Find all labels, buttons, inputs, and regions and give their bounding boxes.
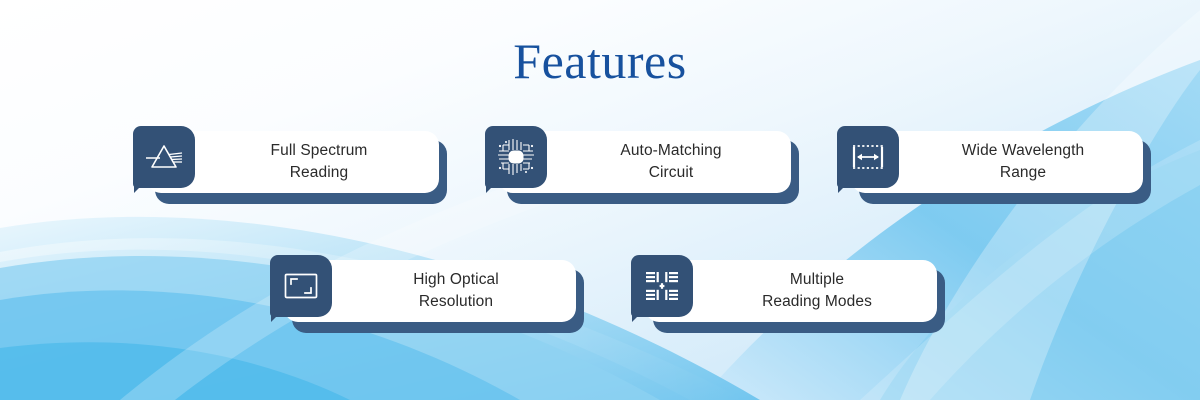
feature-card-auto-matching-circuit[interactable]: Auto-Matching Circuit — [485, 126, 799, 204]
horizontal-range-arrow-icon — [848, 137, 888, 177]
feature-icon-badge — [837, 126, 899, 188]
feature-icon-badge — [133, 126, 195, 188]
badge-tail — [838, 182, 849, 193]
feature-label: Wide Wavelength Range — [910, 140, 1084, 185]
feature-icon-badge — [270, 255, 332, 317]
crop-frame-icon — [281, 266, 321, 306]
feature-icon-badge — [485, 126, 547, 188]
feature-row-bottom: High Optical Resolution Multiple Reading… — [270, 255, 945, 333]
badge-tail — [134, 182, 145, 193]
badge-tail — [271, 311, 282, 322]
feature-label: High Optical Resolution — [361, 269, 499, 314]
page-title: Features — [0, 32, 1200, 90]
feature-card-full-spectrum-reading[interactable]: Full Spectrum Reading — [133, 126, 447, 204]
grid-modes-icon — [642, 266, 682, 306]
feature-card-wide-wavelength-range[interactable]: Wide Wavelength Range — [837, 126, 1151, 204]
badge-tail — [632, 311, 643, 322]
feature-row-top: Full Spectrum Reading Auto-Matching Cir — [133, 126, 1151, 204]
feature-label: Auto-Matching Circuit — [568, 140, 721, 185]
prism-spectrum-icon — [144, 137, 184, 177]
features-slide: Features Full Spectrum Reading — [0, 0, 1200, 400]
microchip-circuit-icon — [496, 137, 536, 177]
feature-icon-badge — [631, 255, 693, 317]
feature-label: Multiple Reading Modes — [710, 269, 872, 314]
feature-label: Full Spectrum Reading — [219, 140, 368, 185]
feature-card-high-optical-resolution[interactable]: High Optical Resolution — [270, 255, 584, 333]
badge-tail — [486, 182, 497, 193]
feature-card-multiple-reading-modes[interactable]: Multiple Reading Modes — [631, 255, 945, 333]
